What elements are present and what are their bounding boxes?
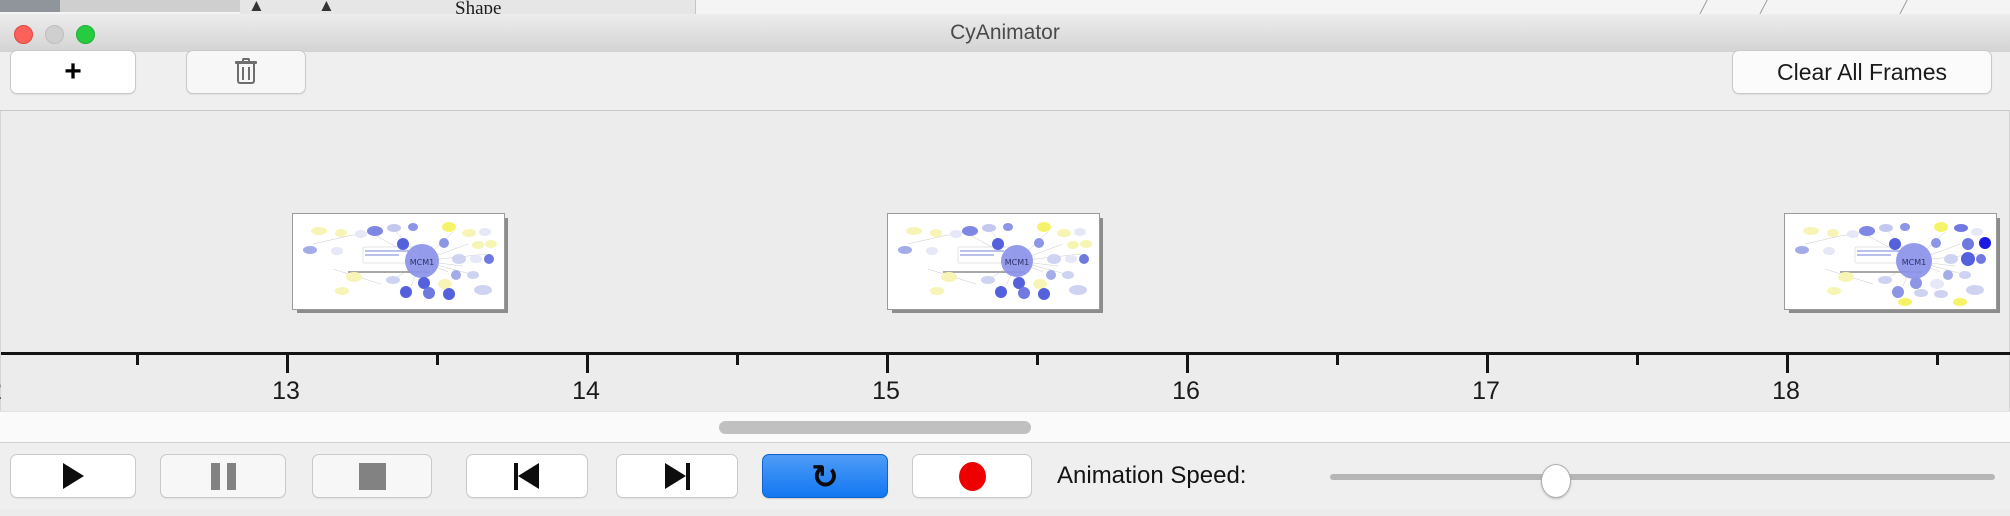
axis-tick-major <box>1486 355 1489 373</box>
timeline-axis-line <box>1 352 2010 355</box>
network-graph-icon: MCM1 <box>1785 214 1994 307</box>
axis-tick-major <box>1786 355 1789 373</box>
play-button[interactable] <box>10 454 136 498</box>
svg-text:MCM1: MCM1 <box>1902 258 1926 267</box>
pause-button[interactable] <box>160 454 286 498</box>
background-window-label: Shape <box>455 0 501 15</box>
pause-icon <box>211 463 236 490</box>
axis-tick-minor <box>736 355 739 365</box>
cyanimator-window: ▲ ▲ Shape ╱ ╱ ╱ CyAnimator + Clear All F… <box>0 0 2010 510</box>
slider-thumb[interactable] <box>1541 464 1571 498</box>
skip-end-icon <box>664 463 690 490</box>
axis-tick-minor <box>136 355 139 365</box>
delete-frame-button[interactable] <box>186 50 306 94</box>
svg-text:MCM1: MCM1 <box>1005 258 1029 267</box>
axis-tick-label: 16 <box>1172 377 1200 406</box>
timeline-frame[interactable]: MCM1 <box>292 213 508 313</box>
scrollbar-thumb[interactable] <box>719 421 1031 434</box>
frame-thumbnail: MCM1 <box>292 213 505 310</box>
network-graph-icon: MCM1 <box>888 214 1097 307</box>
title-bar[interactable]: CyAnimator <box>0 14 2010 53</box>
stop-icon <box>359 463 386 490</box>
loop-icon: ↻ <box>811 460 839 493</box>
animation-speed-slider[interactable] <box>1330 454 1995 498</box>
timeline-scrollbar[interactable] <box>0 411 2010 443</box>
axis-tick-major <box>1186 355 1189 373</box>
slider-track[interactable] <box>1330 474 1995 480</box>
trash-icon <box>235 59 257 85</box>
play-icon <box>63 463 84 489</box>
add-frame-button[interactable]: + <box>10 50 136 94</box>
axis-tick-major <box>886 355 889 373</box>
axis-tick-minor <box>1336 355 1339 365</box>
axis-tick-label: 15 <box>872 377 900 406</box>
loop-button[interactable]: ↻ <box>762 454 888 498</box>
bg-tab <box>480 0 696 14</box>
axis-tick-label: 2 <box>0 377 2 406</box>
record-icon <box>959 462 986 491</box>
axis-tick-minor <box>436 355 439 365</box>
bg-arrow-icon: ╱ <box>1700 0 1707 14</box>
timeline-panel[interactable]: MCM1 <box>0 111 2010 411</box>
skip-start-icon <box>514 463 540 490</box>
bg-arrow-icon: ╱ <box>1760 0 1767 14</box>
axis-tick-minor <box>1036 355 1039 365</box>
axis-tick-label: 17 <box>1472 377 1500 406</box>
bg-light-panel <box>60 0 240 12</box>
bg-glyph-icon: ▲ <box>248 0 265 15</box>
frame-thumbnail: MCM1 <box>887 213 1100 310</box>
skip-end-button[interactable] <box>616 454 738 498</box>
axis-tick-label: 18 <box>1772 377 1800 406</box>
bg-arrow-icon: ╱ <box>1900 0 1907 14</box>
network-graph-icon: MCM1 <box>293 214 502 307</box>
skip-start-button[interactable] <box>466 454 588 498</box>
playback-controls: ↻ Animation Speed: <box>0 443 2010 510</box>
svg-text:MCM1: MCM1 <box>410 258 434 267</box>
timeline-frame[interactable]: MCM1 <box>1784 213 2000 313</box>
timeline-frame[interactable]: MCM1 <box>887 213 1103 313</box>
window-title: CyAnimator <box>0 14 2010 52</box>
bg-dark-panel <box>0 0 60 12</box>
axis-tick-label: 13 <box>272 377 300 406</box>
clear-all-frames-button[interactable]: Clear All Frames <box>1732 50 1992 94</box>
axis-tick-major <box>286 355 289 373</box>
bg-glyph-icon: ▲ <box>318 0 335 15</box>
record-button[interactable] <box>912 454 1032 498</box>
stop-button[interactable] <box>312 454 432 498</box>
axis-tick-major <box>586 355 589 373</box>
axis-tick-minor <box>1636 355 1639 365</box>
animation-speed-label: Animation Speed: <box>1057 454 1246 498</box>
axis-tick-label: 14 <box>572 377 600 406</box>
axis-tick-minor <box>1936 355 1939 365</box>
background-window-strip: ▲ ▲ Shape ╱ ╱ ╱ <box>0 0 2010 15</box>
plus-icon: + <box>64 57 82 87</box>
frame-thumbnail: MCM1 <box>1784 213 1997 310</box>
